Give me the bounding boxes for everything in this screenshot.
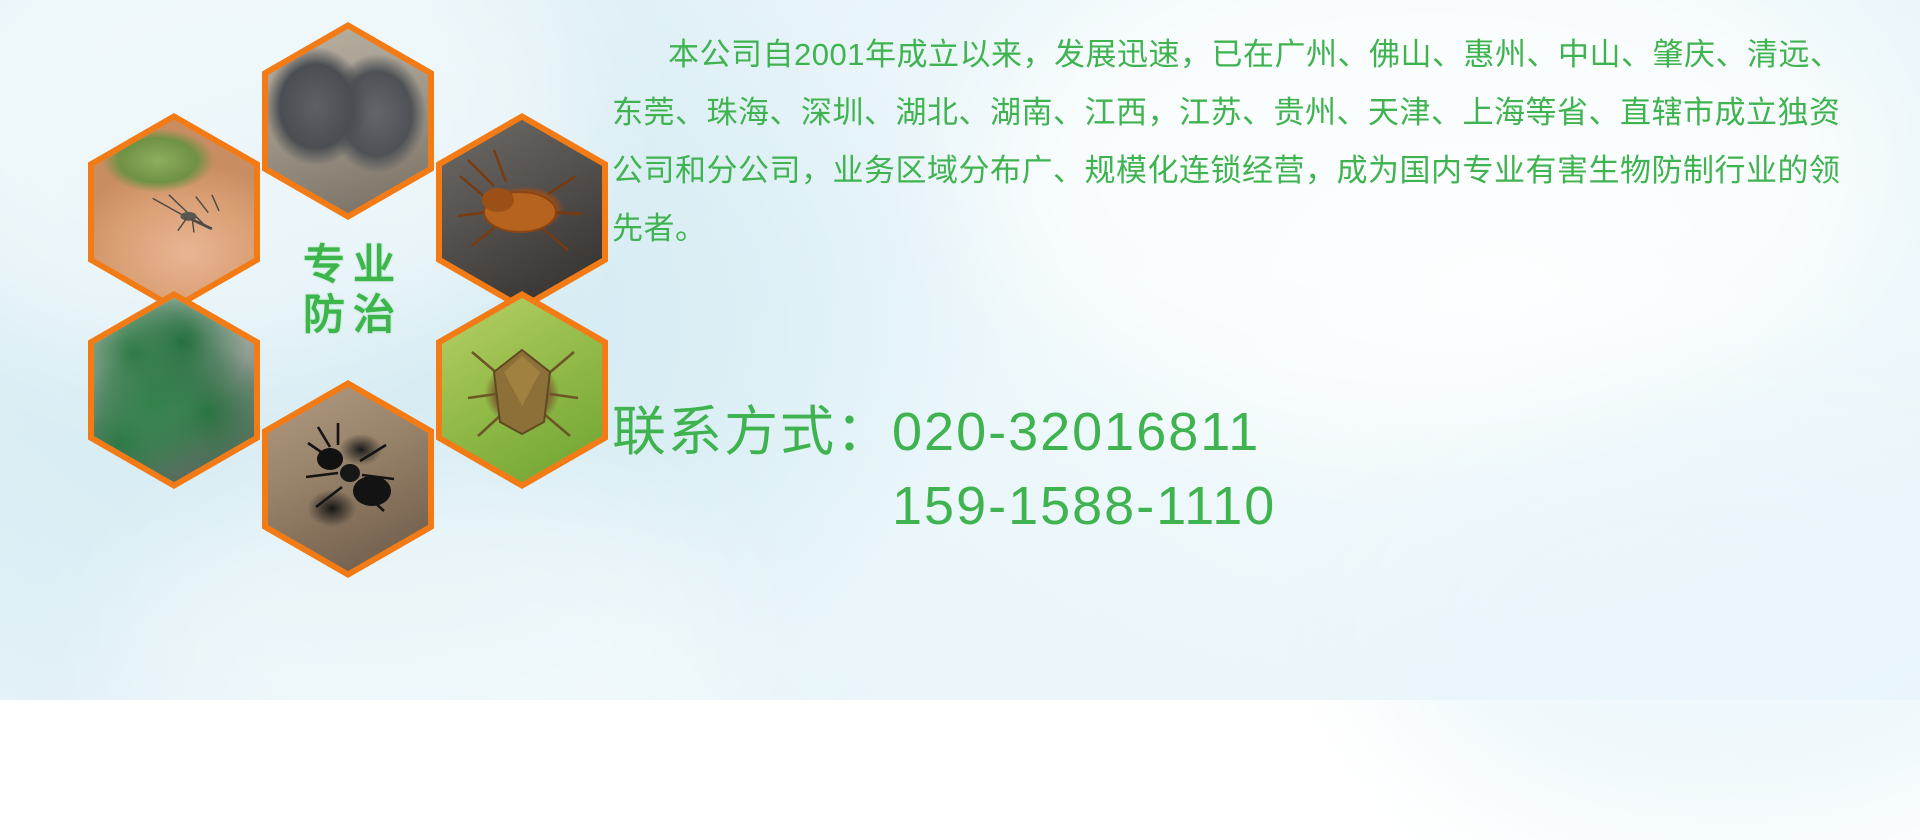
- badge-line-1: 专业: [295, 240, 403, 290]
- hex-photo-rats-image: [268, 29, 428, 213]
- cockroach-photo: [442, 120, 602, 304]
- hex-photo-flies-image: [94, 298, 254, 482]
- contact-line-primary[interactable]: 联系方式：020-32016811: [612, 395, 1882, 469]
- hexagon-photo-cluster: 专业 防治: [88, 8, 588, 568]
- green-blow-flies-photo: [94, 298, 254, 482]
- hex-photo-ants-image: [268, 387, 428, 571]
- hex-photo-cockroach[interactable]: [436, 113, 608, 311]
- hex-photo-mosquito[interactable]: [88, 113, 260, 311]
- badge-line-2: 防治: [295, 290, 403, 340]
- rats-photo: [268, 29, 428, 213]
- hex-photo-cockroach-image: [442, 120, 602, 304]
- hex-photo-ants[interactable]: [262, 380, 434, 578]
- mosquito-icon: [142, 186, 232, 241]
- ant-icon: [268, 387, 428, 571]
- mosquito-photo: [94, 120, 254, 304]
- hex-photo-rats[interactable]: [262, 22, 434, 220]
- company-intro-paragraph: 本公司自2001年成立以来，发展迅速，已在广州、佛山、惠州、中山、肇庆、清远、东…: [612, 26, 1870, 258]
- company-intro-block: 本公司自2001年成立以来，发展迅速，已在广州、佛山、惠州、中山、肇庆、清远、东…: [612, 26, 1872, 258]
- ants-photo: [268, 387, 428, 571]
- cockroach-icon: [442, 120, 602, 304]
- contact-line-secondary[interactable]: 159-1588-1110: [612, 469, 1882, 543]
- hex-photo-mosquito-image: [94, 120, 254, 304]
- hex-photo-flies[interactable]: [88, 291, 260, 489]
- promo-banner: 专业 防治 本公司自2001年成立以来，发展迅速，已在广州、佛山、惠州、中山、肇…: [0, 0, 1920, 700]
- hex-photo-stinkbug-image: [442, 298, 602, 482]
- stink-bug-photo: [442, 298, 602, 482]
- badge-professional-pest-control: 专业 防治: [263, 191, 435, 389]
- contact-block: 联系方式：020-32016811 159-1588-1110: [612, 395, 1882, 543]
- hex-photo-stinkbug[interactable]: [436, 291, 608, 489]
- stink-bug-icon: [442, 298, 602, 482]
